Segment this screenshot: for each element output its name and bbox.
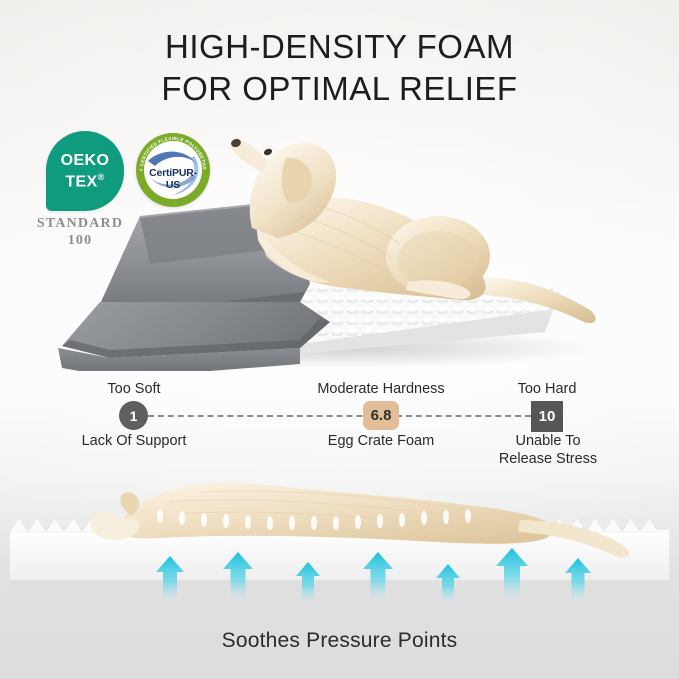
scale-right-bottom-line-1: Unable To	[482, 432, 614, 450]
scale-right-bottom-label: Unable To Release Stress	[482, 432, 614, 468]
oeko-standard-line-1: STANDARD	[30, 215, 130, 232]
scale-marker-1: 1	[119, 401, 148, 430]
pressure-relief-illustration	[0, 468, 679, 628]
scale-marker-10: 10	[531, 401, 563, 432]
hardness-scale: Too Soft 1 Lack Of Support Moderate Hard…	[0, 380, 679, 470]
scale-marker-6-8: 6.8	[363, 401, 399, 430]
scale-left-top-label: Too Soft	[73, 380, 195, 398]
scale-middle-bottom-label: Egg Crate Foam	[307, 432, 455, 450]
bottom-caption: Soothes Pressure Points	[0, 629, 679, 653]
scale-middle-top-label: Moderate Hardness	[291, 380, 471, 398]
oeko-tex-standard-label: STANDARD 100	[30, 215, 130, 249]
title-line-1: HIGH-DENSITY FOAM	[0, 26, 679, 68]
dog-eye	[263, 148, 273, 157]
oeko-tex-badge: OEKO TEX®	[46, 131, 124, 211]
certipur-us-badge: CertiPUR-US COMPANY CERTIFIED FLEXIBLE P…	[136, 133, 210, 207]
oeko-tex-line-1: OEKO	[61, 152, 110, 169]
oeko-tex-label: OEKO TEX®	[46, 131, 124, 211]
scale-connector-line	[148, 415, 531, 417]
title-line-2: FOR OPTIMAL RELIEF	[0, 68, 679, 110]
dog-haunch-shading	[398, 231, 478, 289]
page-title: HIGH-DENSITY FOAM FOR OPTIMAL RELIEF	[0, 26, 679, 110]
oeko-tex-line-2: TEX®	[65, 169, 104, 190]
scale-left-bottom-label: Lack Of Support	[52, 432, 216, 450]
scale-right-bottom-line-2: Release Stress	[482, 450, 614, 468]
oeko-standard-line-2: 100	[30, 232, 130, 249]
registered-mark-icon: ®	[98, 172, 105, 182]
foam-slab-edge	[10, 580, 669, 592]
scale-right-top-label: Too Hard	[487, 380, 607, 398]
infographic-page: HIGH-DENSITY FOAM FOR OPTIMAL RELIEF OEK…	[0, 0, 679, 679]
svg-text:COMPANY CERTIFIED FLEXIBLE POL: COMPANY CERTIFIED FLEXIBLE POLYURETHANE …	[136, 133, 207, 171]
certipur-name: CertiPUR-US	[144, 167, 202, 191]
certification-badges: OEKO TEX® STANDARD 100 CertiPUR-US	[38, 131, 238, 261]
